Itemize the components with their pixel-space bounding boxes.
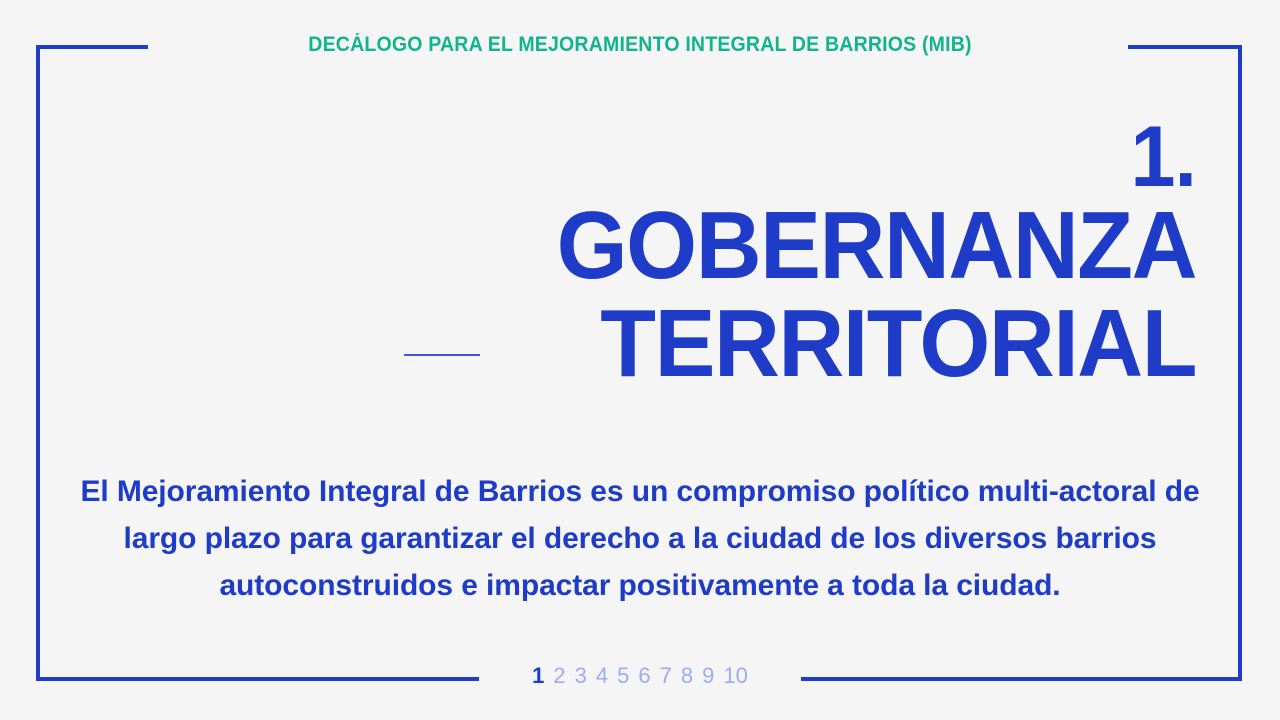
slide-title-block: 1. GOBERNANZA TERRITORIAL [60, 118, 1196, 393]
pagination-item-2[interactable]: 2 [553, 665, 565, 687]
page-title-line-1: GOBERNANZA [117, 197, 1196, 295]
page-title: GOBERNANZA TERRITORIAL [117, 197, 1196, 393]
pagination-item-1[interactable]: 1 [532, 665, 544, 687]
slide-eyebrow-label: DECÁLOGO PARA EL MEJORAMIENTO INTEGRAL D… [45, 34, 1235, 55]
pagination-item-6[interactable]: 6 [638, 665, 650, 687]
pagination[interactable]: 1 2 3 4 5 6 7 8 9 10 [0, 665, 1280, 687]
pagination-item-3[interactable]: 3 [575, 665, 587, 687]
slide-canvas: DECÁLOGO PARA EL MEJORAMIENTO INTEGRAL D… [0, 0, 1280, 720]
page-title-line-2: TERRITORIAL [117, 295, 1196, 393]
title-divider-rule [404, 354, 480, 356]
body-paragraph: El Mejoramiento Integral de Barrios es u… [78, 468, 1202, 609]
pagination-item-7[interactable]: 7 [660, 665, 672, 687]
slide-number: 1. [128, 118, 1196, 197]
frame-border-left [36, 45, 40, 681]
pagination-item-4[interactable]: 4 [596, 665, 608, 687]
pagination-item-8[interactable]: 8 [681, 665, 693, 687]
pagination-item-5[interactable]: 5 [617, 665, 629, 687]
frame-border-right [1238, 45, 1242, 681]
pagination-item-9[interactable]: 9 [702, 665, 714, 687]
pagination-item-10[interactable]: 10 [723, 665, 747, 687]
